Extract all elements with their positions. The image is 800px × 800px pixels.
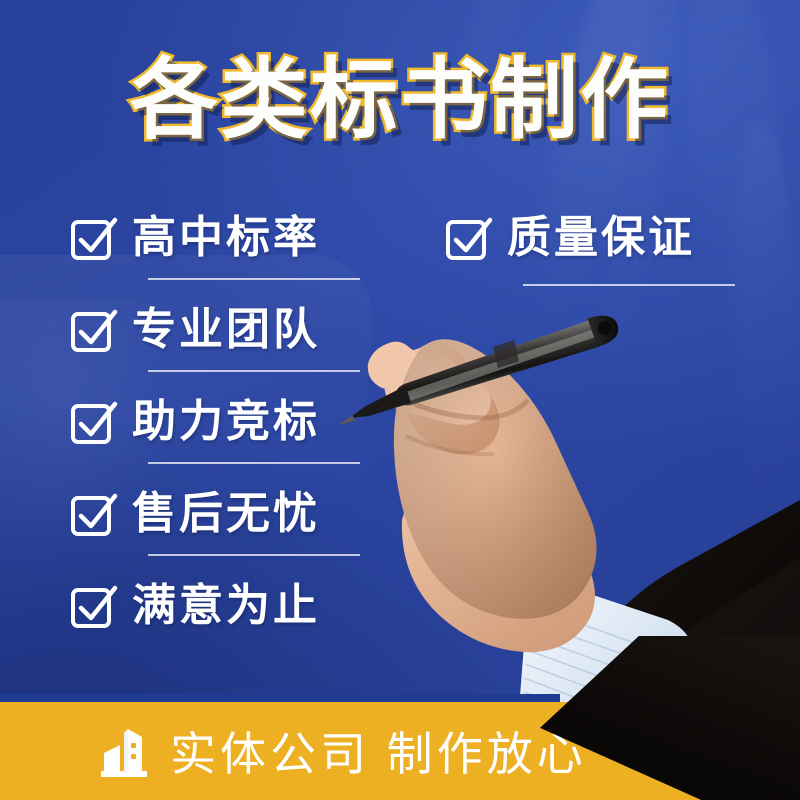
feature-separator — [523, 284, 735, 286]
feature-item-5[interactable]: 质量保证 — [447, 216, 695, 260]
checkbox-checked-icon — [447, 217, 489, 259]
title-block: 各类标书制作 — [0, 52, 800, 147]
office-building-icon — [96, 723, 152, 779]
feature-label: 质量保证 — [507, 216, 695, 260]
feature-label: 满意为止 — [132, 584, 320, 628]
feature-item-4[interactable]: 满意为止 — [72, 584, 320, 628]
feature-label: 售后无忧 — [132, 492, 320, 536]
feature-item-1[interactable]: 专业团队 — [72, 308, 320, 352]
feature-item-3[interactable]: 售后无忧 — [72, 492, 320, 536]
feature-separator — [148, 462, 360, 464]
feature-label: 高中标率 — [132, 216, 320, 260]
checkbox-checked-icon — [72, 401, 114, 443]
feature-separator — [148, 278, 360, 280]
bottom-bar-text: 实体公司 制作放心 — [170, 718, 587, 784]
feature-separator — [148, 554, 360, 556]
checkbox-checked-icon — [72, 217, 114, 259]
checkbox-checked-icon — [72, 493, 114, 535]
promo-banner: 各类标书制作 高中标率 专业团队 助力竞标 — [0, 0, 800, 800]
feature-separator — [148, 370, 360, 372]
feature-list: 高中标率 专业团队 助力竞标 售后无忧 — [0, 200, 800, 670]
feature-label: 专业团队 — [132, 308, 320, 352]
checkbox-checked-icon — [72, 585, 114, 627]
checkbox-checked-icon — [72, 309, 114, 351]
page-title: 各类标书制作 — [130, 52, 670, 147]
feature-label: 助力竞标 — [132, 400, 320, 444]
feature-item-0[interactable]: 高中标率 — [72, 216, 320, 260]
feature-item-2[interactable]: 助力竞标 — [72, 400, 320, 444]
